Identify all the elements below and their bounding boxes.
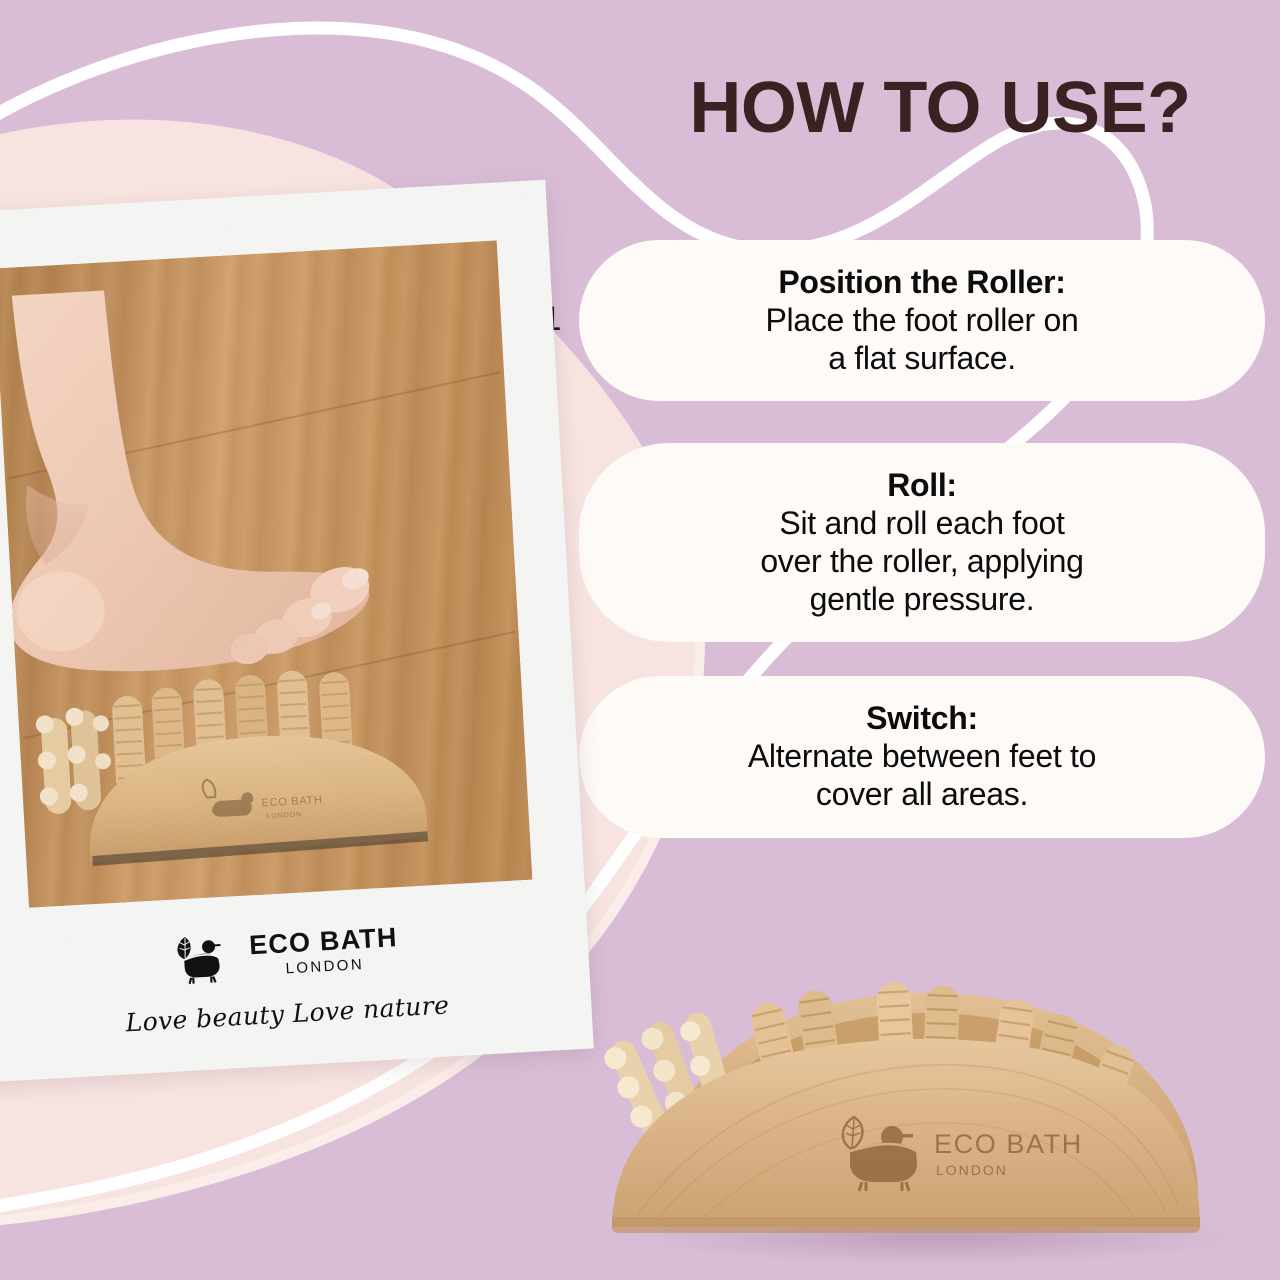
polaroid-card: ECO BATH LONDON	[0, 180, 594, 1083]
step-card-2[interactable]: Roll: Sit and roll each foot over the ro…	[579, 443, 1265, 642]
step-card-3[interactable]: Switch: Alternate between feet to cover …	[579, 676, 1265, 837]
step-line-2-1: Sit and roll each foot	[625, 505, 1219, 543]
step-title-1: Position the Roller:	[625, 264, 1219, 302]
photo-roller-product: ECO BATH LONDON	[32, 656, 463, 879]
polaroid-caption: ECO BATH LONDON Love beauty Love nature	[29, 880, 545, 1138]
hero-product-image: ECO BATH LONDON	[578, 965, 1278, 1265]
brand-name: ECO BATH	[248, 924, 398, 959]
brand-lockup: ECO BATH LONDON	[168, 917, 400, 990]
infographic-canvas: HOW TO USE? 1 Position the Roller: Place…	[0, 0, 1280, 1280]
step-item-3: 3 Switch: Alternate between feet to cove…	[525, 676, 1265, 837]
steps-list: 1 Position the Roller: Place the foot ro…	[525, 240, 1265, 864]
step-card-1[interactable]: Position the Roller: Place the foot roll…	[579, 240, 1265, 401]
engraved-brand-name: ECO BATH	[934, 1129, 1083, 1159]
step-line-1-1: Place the foot roller on	[625, 302, 1219, 340]
page-title: HOW TO USE?	[600, 72, 1280, 144]
brand-tagline: Love beauty Love nature	[125, 990, 450, 1037]
step-item-2: 2 Roll: Sit and roll each foot over the …	[525, 443, 1265, 642]
spike-roller-group	[35, 706, 114, 815]
step-item-1: 1 Position the Roller: Place the foot ro…	[525, 240, 1265, 401]
product-photo: ECO BATH LONDON	[0, 241, 532, 908]
step-line-1-2: a flat surface.	[625, 340, 1219, 378]
photo-roller-svg: ECO BATH LONDON	[32, 656, 463, 879]
step-line-3-1: Alternate between feet to	[625, 738, 1219, 776]
product-bottom-edge	[612, 1217, 1200, 1233]
step-line-2-2: over the roller, applying	[625, 543, 1219, 581]
engraved-brand-sub: LONDON	[936, 1162, 1008, 1178]
step-line-2-3: gentle pressure.	[625, 581, 1219, 619]
hero-product-svg: ECO BATH LONDON	[578, 965, 1278, 1265]
step-line-3-2: cover all areas.	[625, 776, 1219, 814]
step-title-2: Roll:	[625, 467, 1219, 505]
bathtub-leaf-icon	[168, 926, 237, 990]
brand-text-block: ECO BATH LONDON	[248, 924, 399, 978]
step-title-3: Switch:	[625, 700, 1219, 738]
